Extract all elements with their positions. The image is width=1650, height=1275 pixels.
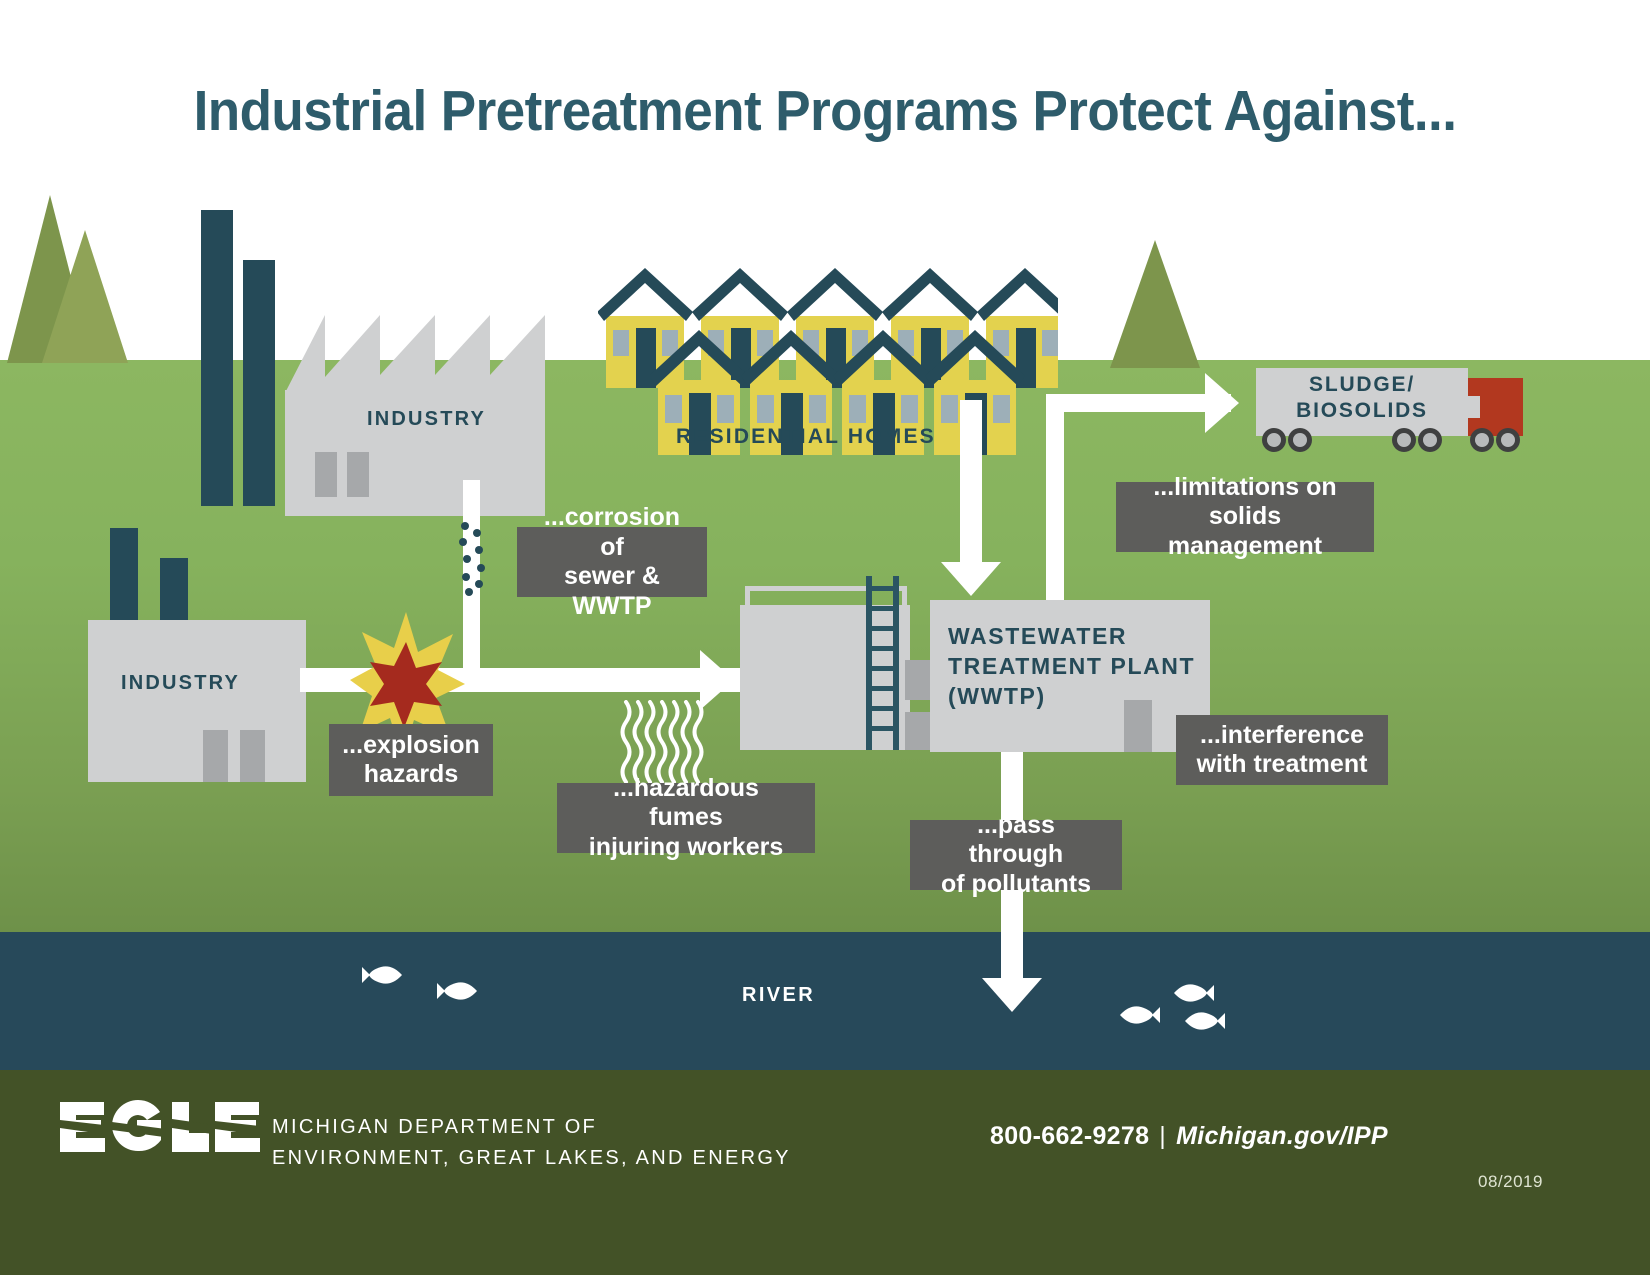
callout-explosion: ...explosion hazards xyxy=(329,724,493,796)
industry-left-window-1 xyxy=(203,730,228,782)
footer-department: MICHIGAN DEPARTMENT OF ENVIRONMENT, GREA… xyxy=(272,1112,791,1174)
truck-wheel-5 xyxy=(1470,428,1494,452)
river-label: RIVER xyxy=(742,984,815,1007)
industry-left-stack-2 xyxy=(160,558,188,624)
industry-left-body xyxy=(88,620,306,782)
footer-url[interactable]: Michigan.gov/IPP xyxy=(1176,1122,1388,1150)
arrow-head-to-truck xyxy=(1205,373,1239,433)
truck-wheel-4 xyxy=(1418,428,1442,452)
arrow-wwtp-to-truck xyxy=(1046,394,1231,412)
wwtp-label: WASTEWATER TREATMENT PLANT (WWTP) xyxy=(948,622,1198,712)
truck-cab-window xyxy=(1468,396,1480,418)
industry-left-stack-1 xyxy=(110,528,138,624)
truck-wheel-2 xyxy=(1288,428,1312,452)
egle-logo xyxy=(60,1098,260,1160)
infographic-page: Industrial Pretreatment Programs Protect… xyxy=(0,0,1650,1275)
callout-limitations: ...limitations on solids management xyxy=(1116,482,1374,552)
arrow-head-homes-down xyxy=(941,562,1001,596)
truck-label: SLUDGE/ BIOSOLIDS xyxy=(1262,372,1462,423)
footer-date: 08/2019 xyxy=(1478,1172,1543,1192)
smokestack-short xyxy=(243,260,275,506)
river-band xyxy=(0,932,1650,1070)
tree-group-right xyxy=(1100,240,1220,390)
page-title: Industrial Pretreatment Programs Protect… xyxy=(58,78,1593,144)
smokestack-tall xyxy=(201,210,233,506)
corrosion-particles-icon xyxy=(455,520,500,598)
callout-pass-through: ...pass through of pollutants xyxy=(910,820,1122,890)
arrow-head-to-river xyxy=(982,978,1042,1012)
fish-icon-1 xyxy=(362,962,404,988)
industry-left-label: INDUSTRY xyxy=(121,672,240,695)
tree-group-left xyxy=(0,195,210,395)
truck-wheel-6 xyxy=(1496,428,1520,452)
callout-corrosion: ...corrosion of sewer & WWTP xyxy=(517,527,707,597)
factory-top-window-2 xyxy=(347,452,369,497)
fish-icon-4 xyxy=(1172,980,1214,1006)
fish-icon-2 xyxy=(437,978,479,1004)
footer-phone[interactable]: 800-662-9278 xyxy=(990,1122,1149,1150)
footer-contact: 800-662-9278|Michigan.gov/IPP xyxy=(990,1122,1388,1151)
fish-icon-3 xyxy=(1118,1002,1160,1028)
truck-wheel-3 xyxy=(1392,428,1416,452)
residential-homes-label: RESIDENTIAL HOMES xyxy=(676,425,936,449)
factory-top-window-1 xyxy=(315,452,337,497)
hazardous-fumes-icon xyxy=(620,700,710,785)
fish-icon-5 xyxy=(1183,1008,1225,1034)
callout-fumes: ...hazardous fumes injuring workers xyxy=(557,783,815,853)
callout-interference: ...interference with treatment xyxy=(1176,715,1388,785)
industry-left-window-2 xyxy=(240,730,265,782)
ladder-rungs xyxy=(866,576,899,750)
arrow-homes-down xyxy=(960,400,982,580)
industry-top-label: INDUSTRY xyxy=(367,408,486,431)
footer-separator: | xyxy=(1149,1122,1176,1150)
arrow-wwtp-up xyxy=(1046,394,1064,606)
truck-wheel-1 xyxy=(1262,428,1286,452)
